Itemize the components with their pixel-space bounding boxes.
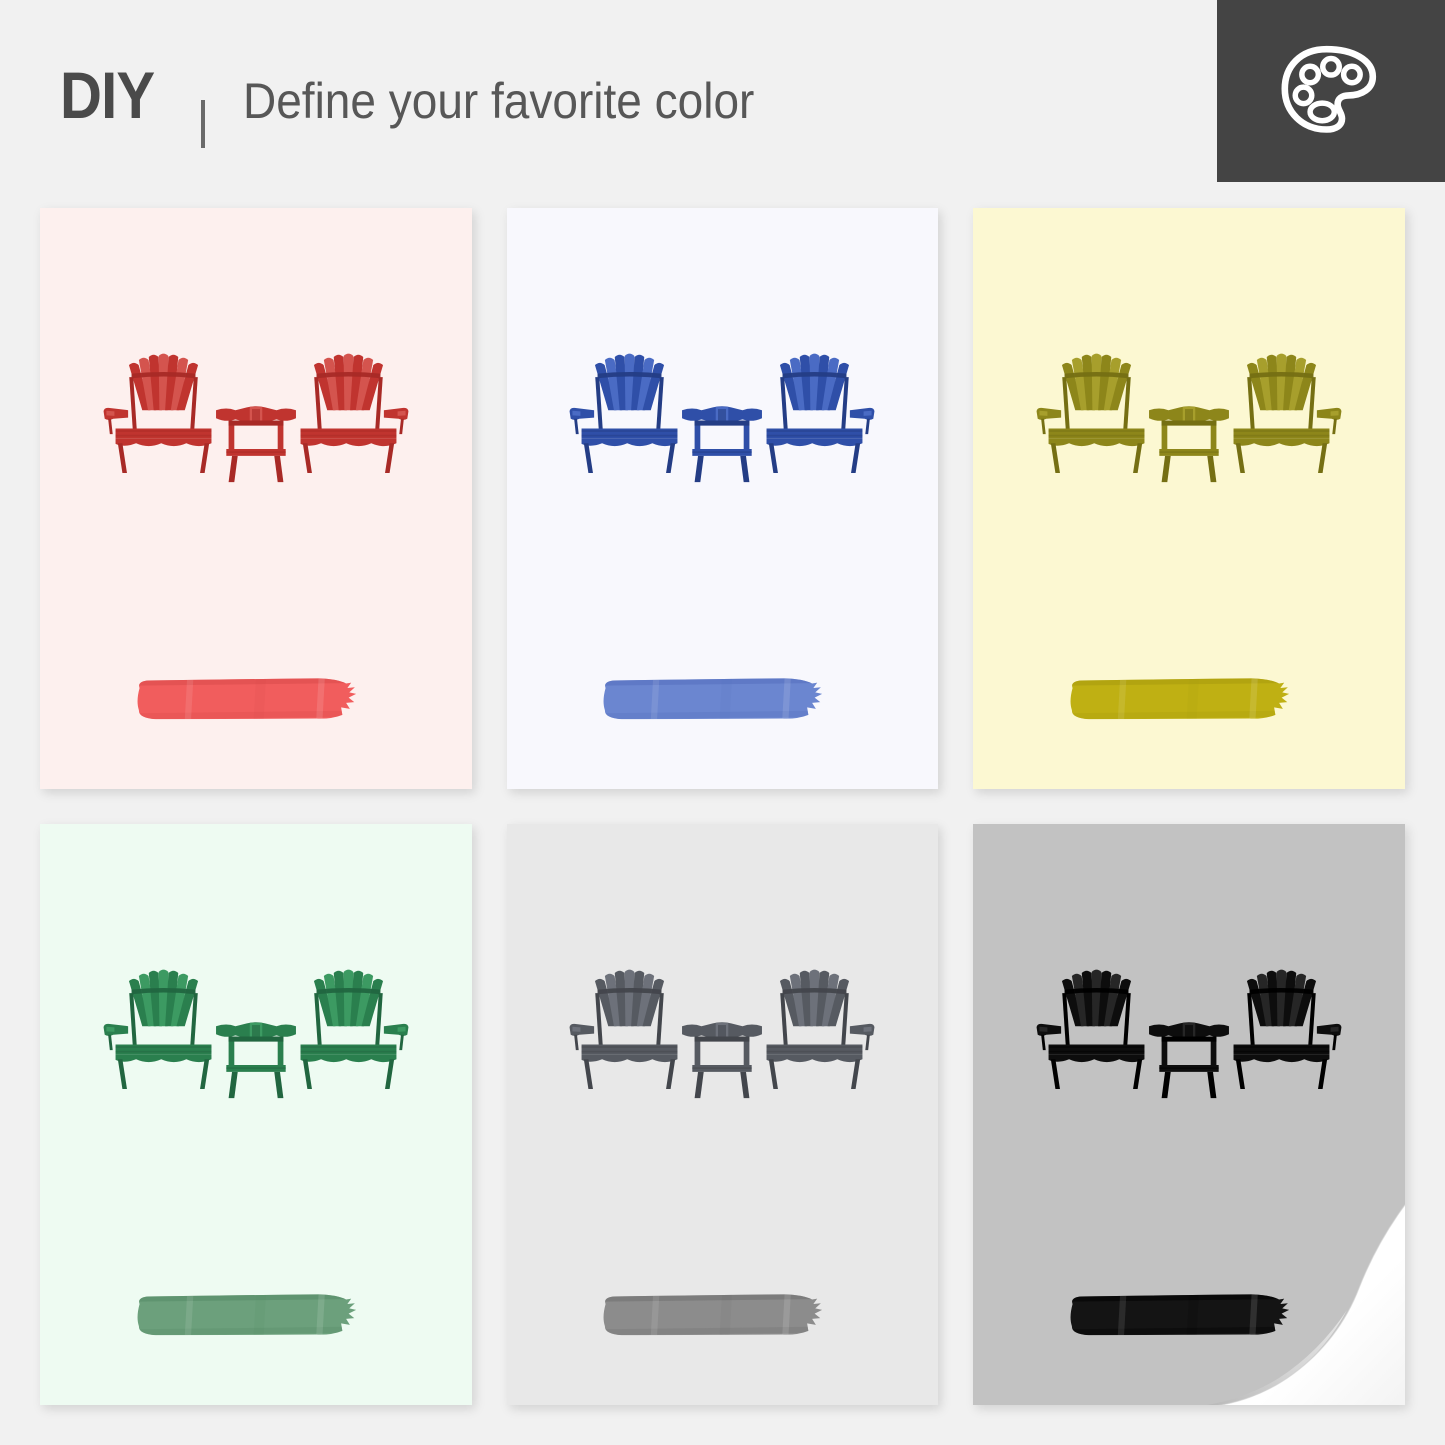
color-variant-grid: [40, 208, 1405, 1405]
color-card-red[interactable]: [40, 208, 472, 789]
chair-illustration-gray: [546, 914, 900, 1146]
chair-illustration-black: [1012, 914, 1366, 1146]
palette-icon: [1276, 36, 1386, 146]
page-title: DIY: [60, 62, 154, 128]
chair-illustration-green: [79, 914, 433, 1146]
header-divider: [201, 100, 205, 148]
paint-swatch-gray: [597, 1289, 847, 1341]
paint-swatch-green: [131, 1289, 381, 1341]
color-card-black[interactable]: [973, 824, 1405, 1405]
color-card-olive[interactable]: [973, 208, 1405, 789]
paint-swatch-red: [131, 673, 381, 725]
paint-swatch-olive: [1064, 673, 1314, 725]
page-header: DIY Define your favorite color: [60, 62, 799, 152]
color-card-green[interactable]: [40, 824, 472, 1405]
chair-illustration-blue: [546, 298, 900, 530]
color-card-blue[interactable]: [507, 208, 939, 789]
paint-swatch-black: [1064, 1289, 1314, 1341]
chair-illustration-red: [79, 298, 433, 530]
paint-swatch-blue: [597, 673, 847, 725]
color-card-gray[interactable]: [507, 824, 939, 1405]
chair-illustration-olive: [1012, 298, 1366, 530]
page-tagline: Define your favorite color: [243, 76, 754, 126]
palette-badge: [1217, 0, 1445, 182]
